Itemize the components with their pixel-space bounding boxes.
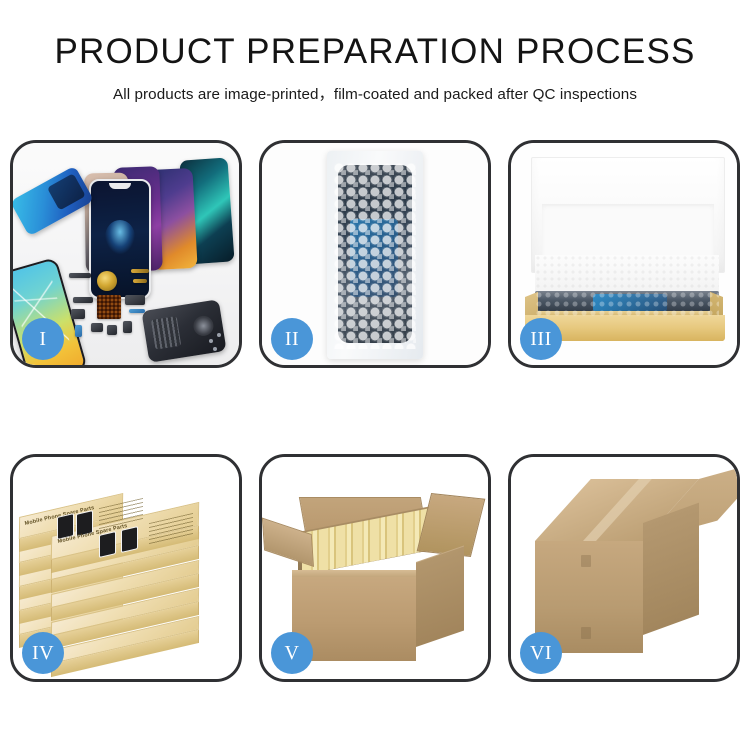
page-title: PRODUCT PREPARATION PROCESS [0,34,750,69]
step-badge-4: IV [22,632,64,674]
sealed-carton-side-face [643,503,699,635]
process-step-panel-1: I [10,140,242,368]
spare-part-strip [69,273,91,278]
box-art-phone [121,526,138,553]
step-badge-3: III [520,318,562,360]
carton-side-face [416,546,464,647]
step-badge-2: II [271,318,313,360]
spare-part-module [91,323,103,332]
spare-part-module [123,321,132,333]
screw-part [213,347,217,351]
foam-padding [535,255,719,293]
process-step-panel-2: II [259,140,491,368]
screw-part [209,339,213,343]
spare-part-flex-cable [133,279,147,283]
process-step-panel-4: Mobile Phone Spare Parts [10,454,242,682]
step-badge-1: I [22,318,64,360]
page-header: PRODUCT PREPARATION PROCESS All products… [0,0,750,104]
spare-part-connector [73,297,93,303]
speaker-coil-part [97,271,117,291]
spare-part-battery-tab [75,325,82,337]
page-subtitle: All products are image-printed，film-coat… [0,82,750,104]
carton-seam-notch [581,627,591,639]
spare-part-module [107,325,117,335]
box-art-phone [99,531,116,558]
chip-array-part [97,295,121,319]
retail-box-labeled: Mobile Phone Spare Parts [19,505,123,527]
spare-part-flex-cable [131,269,149,273]
spare-part-ribbon [129,309,145,313]
screw-part [217,333,221,337]
spare-part-bracket [71,309,85,319]
carton-seam-notch [581,555,591,567]
process-step-panel-5: V [259,454,491,682]
wrapped-items-in-box [535,291,719,319]
step-badge-5: V [271,632,313,674]
wrapped-phone-part [338,165,412,343]
process-step-panel-3: III [508,140,740,368]
step-badge-6: VI [520,632,562,674]
process-step-grid: I II III [10,140,740,682]
spare-part-camera [125,295,145,305]
process-step-panel-6: VI [508,454,740,682]
